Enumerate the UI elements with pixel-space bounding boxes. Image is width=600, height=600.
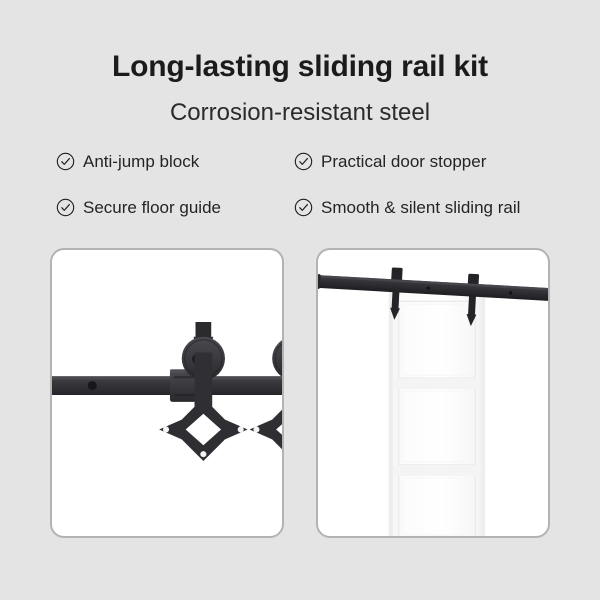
roller-wheel [272,337,282,380]
bolt-hole [253,426,259,432]
check-circle-icon [56,198,75,217]
check-circle-icon [294,198,313,217]
check-circle-icon [56,152,75,171]
bolt-hole [238,426,244,432]
white-barn-door [389,291,485,536]
check-circle-icon [294,152,313,171]
bolt-hole [200,451,206,457]
list-item-label: Anti-jump block [83,152,199,171]
product-feature-graphic: Long-lasting sliding rail kit Corrosion-… [0,0,600,600]
list-item-label: Practical door stopper [321,152,486,171]
list-item-label: Smooth & silent sliding rail [321,198,520,217]
list-item: Anti-jump block [56,148,294,174]
sliding-rail [52,376,282,395]
installed-door-panel [316,248,550,538]
bolt-hole [163,426,169,432]
diamond-hanger-plate [159,398,247,461]
hardware-closeup-illustration [52,250,282,536]
list-item: Secure floor guide [56,194,294,220]
bolt-hole [88,381,97,390]
list-item-label: Secure floor guide [83,198,221,217]
hardware-closeup-panel [50,248,284,538]
feature-list: Anti-jump block Practical door stopper S… [56,148,556,220]
hanger-top-stub [196,322,212,338]
diamond-hanger-plate [250,398,282,461]
list-item: Practical door stopper [294,148,556,174]
installed-door-illustration [318,250,548,536]
page-title: Long-lasting sliding rail kit [0,50,600,84]
page-subtitle: Corrosion-resistant steel [0,99,600,127]
list-item: Smooth & silent sliding rail [294,194,556,220]
